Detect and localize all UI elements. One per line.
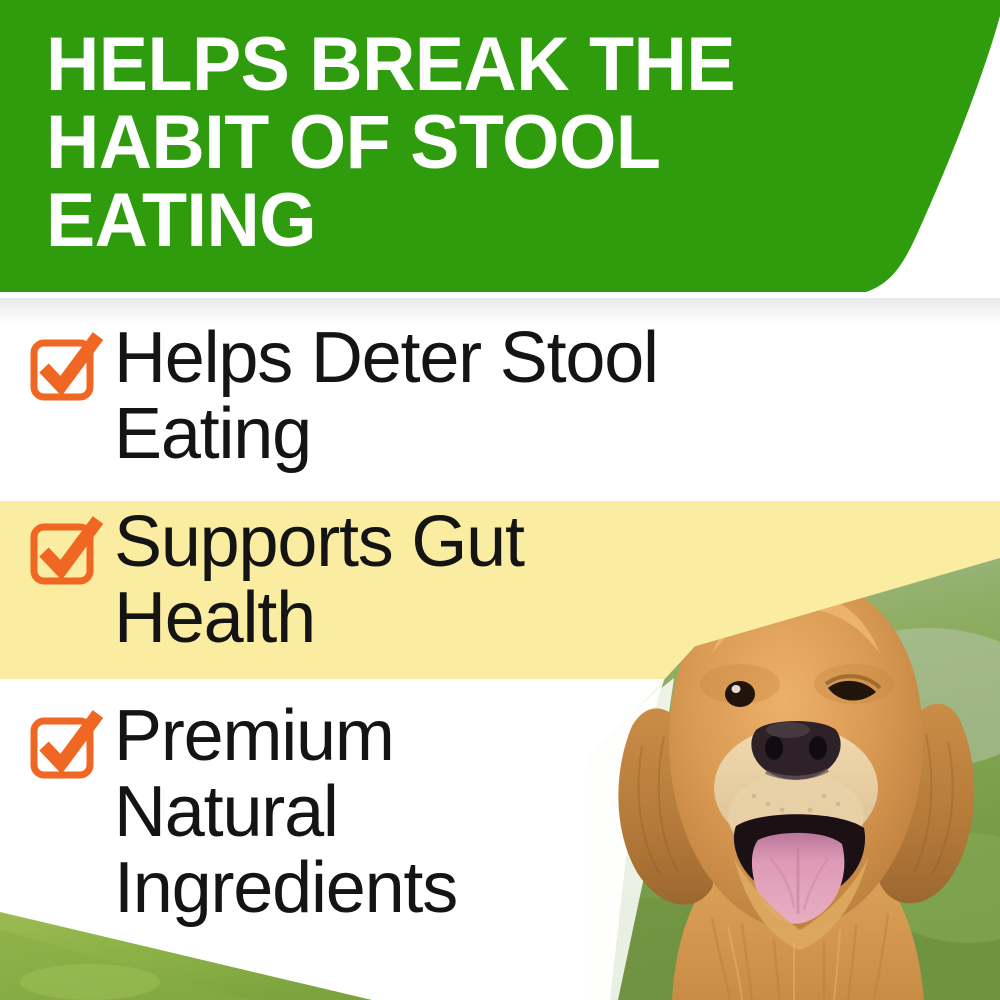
orange-checkbox-check-icon xyxy=(28,712,100,778)
checkbox-check-glyph xyxy=(28,518,100,584)
benefit-label: Premium Natural Ingredients xyxy=(114,698,654,926)
orange-checkbox-check-icon xyxy=(28,518,100,584)
checkbox-check-glyph xyxy=(28,712,100,778)
benefit-label: Helps Deter Stool Eating xyxy=(114,320,926,472)
list-item[interactable]: Premium Natural Ingredients xyxy=(28,706,668,926)
benefit-label: Supports Gut Health xyxy=(114,504,774,656)
checkbox-check-glyph xyxy=(28,334,100,400)
orange-checkbox-check-icon xyxy=(28,334,100,400)
header-banner: HELPS BREAK THE HABIT OF STOOL EATING xyxy=(0,0,1000,298)
list-item[interactable]: Supports Gut Health xyxy=(28,512,788,656)
page-title: HELPS BREAK THE HABIT OF STOOL EATING xyxy=(46,26,900,260)
infographic-root: HELPS BREAK THE HABIT OF STOOL EATING xyxy=(0,0,1000,1000)
list-item[interactable]: Helps Deter Stool Eating xyxy=(28,328,948,472)
